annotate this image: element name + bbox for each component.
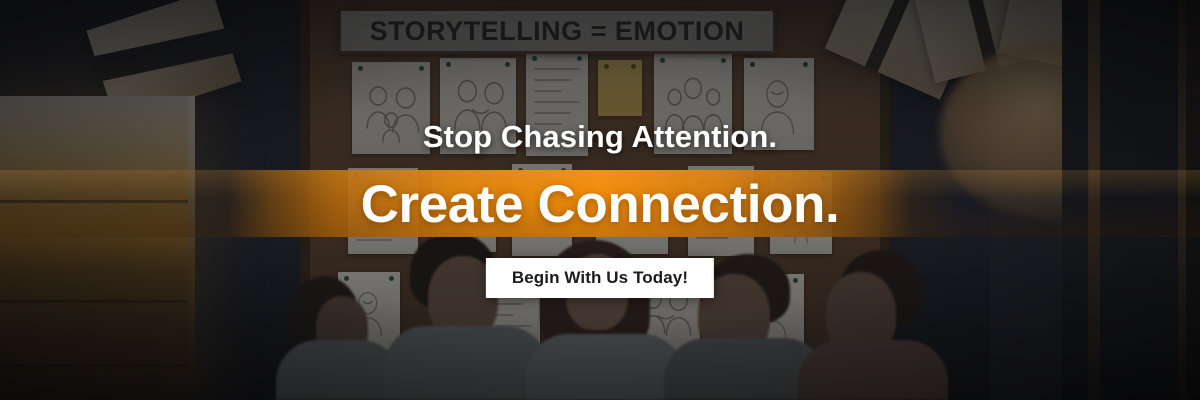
hero-banner: STORYTELLING = EMOTION: [0, 0, 1200, 400]
headline-primary: Create Connection.: [0, 172, 1200, 236]
begin-with-us-today-button[interactable]: Begin With Us Today!: [486, 258, 714, 298]
headline-secondary: Stop Chasing Attention.: [0, 120, 1200, 154]
hero-content: Stop Chasing Attention. Create Connectio…: [0, 0, 1200, 400]
